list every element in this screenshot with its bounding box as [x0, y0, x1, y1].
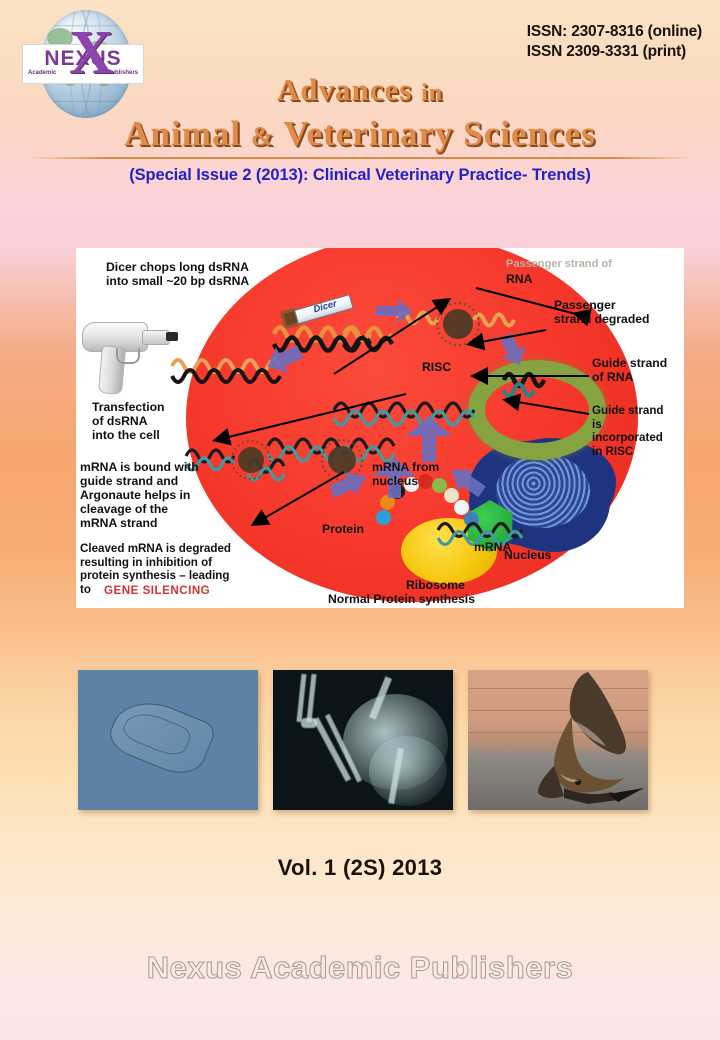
issn-print: ISSN 2309-3331 (print): [527, 42, 702, 62]
photo-bird-of-prey: [468, 670, 648, 810]
parasite-outline: [104, 690, 217, 782]
masthead: Advances in Animal & Veterinary Sciences: [0, 72, 720, 157]
rnai-diagram: Dicer Dicer chops long dsRNA into small …: [76, 248, 684, 608]
label-normal-protein-synthesis: Normal Protein synthesis: [328, 592, 475, 606]
xray-bone: [297, 674, 307, 722]
masthead-divider: [28, 157, 692, 159]
label-passenger-degraded: Passenger strand degraded: [554, 298, 650, 326]
publisher-footer: Nexus Academic Publishers: [0, 950, 720, 986]
label-mrna: mRNA: [474, 540, 511, 554]
issn-online: ISSN: 2307-8316 (online): [527, 22, 702, 42]
gene-gun-icon: [82, 320, 186, 396]
label-mrna-from-nucleus: mRNA from nucleus: [372, 460, 439, 488]
gun-tip: [166, 332, 178, 341]
issue-subtitle: (Special Issue 2 (2013): Clinical Veteri…: [0, 166, 720, 185]
label-rna: RNA: [506, 272, 532, 286]
xray-bone: [307, 674, 317, 722]
label-guide-incorporated: Guide strand is incorporated in RISC: [592, 404, 664, 458]
photo-avian-radiograph: [273, 670, 453, 810]
volume-label: Vol. 1 (2S) 2013: [0, 855, 720, 881]
issn-block: ISSN: 2307-8316 (online) ISSN 2309-3331 …: [527, 22, 702, 62]
masthead-in: in: [421, 80, 443, 106]
label-gene-silencing: GENE SILENCING: [104, 584, 210, 598]
masthead-sciences: Sciences: [463, 114, 595, 153]
xray-soft-tissue: [369, 736, 447, 806]
masthead-advances: Advances: [277, 72, 412, 107]
label-risc: RISC: [422, 360, 451, 374]
xray-bone: [301, 718, 317, 728]
label-ribosome: Ribosome: [406, 578, 465, 592]
label-mrna-bound: mRNA is bound with guide strand and Argo…: [80, 460, 199, 530]
label-protein: Protein: [322, 522, 364, 536]
masthead-veterinary: Veterinary: [284, 114, 454, 153]
label-passenger-strand-of: Passenger strand of: [506, 258, 612, 271]
masthead-line-2: Animal & Veterinary Sciences: [0, 113, 720, 157]
label-transfection: Transfection of dsRNA into the cell: [92, 400, 164, 442]
journal-cover: NEXUS Academic Publishers X ISSN: 2307-8…: [0, 0, 720, 1040]
gun-trigger-guard: [116, 348, 140, 364]
masthead-ampersand: &: [251, 121, 275, 151]
masthead-animal: Animal: [124, 114, 241, 153]
hawk-silhouette: [468, 670, 648, 810]
photo-microscopy-parasite: [78, 670, 258, 810]
label-guide-strand-of-rna: Guide strand of RNA: [592, 356, 667, 384]
photo-strip: [78, 670, 648, 810]
masthead-line-1: Advances in: [0, 72, 720, 111]
label-dicer-chops: Dicer chops long dsRNA into small ~20 bp…: [106, 260, 249, 288]
